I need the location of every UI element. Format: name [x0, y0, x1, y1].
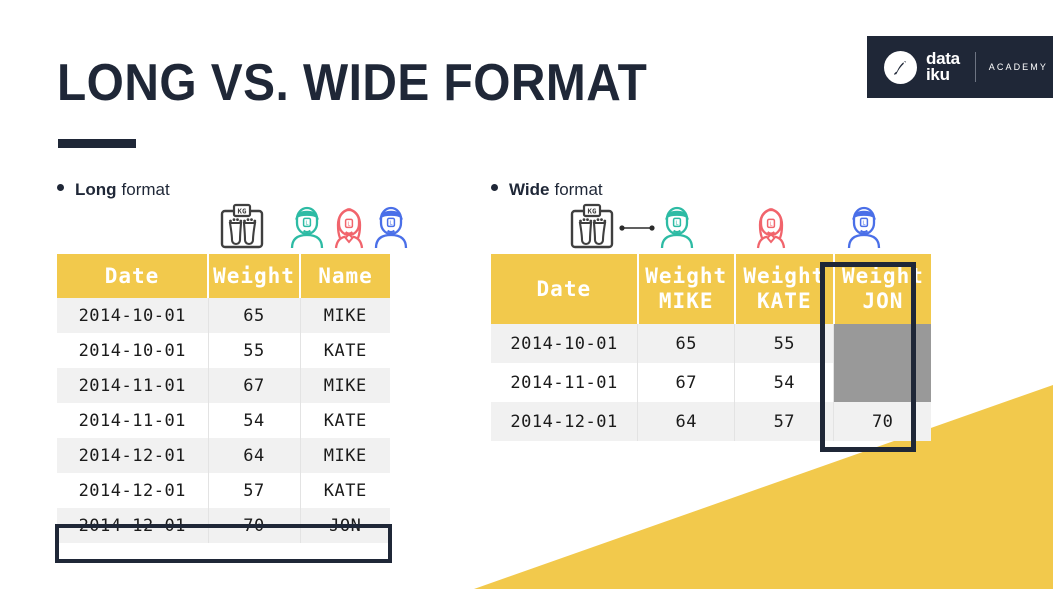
cell-date: 2014-10-01 [57, 333, 208, 368]
svg-text:L: L [389, 221, 392, 227]
wide-format-icon-strip: KG [491, 208, 931, 254]
svg-text:L: L [305, 221, 308, 227]
logo-wordmark-line2: iku [926, 67, 960, 83]
dataiku-bird-icon [884, 51, 917, 84]
cell-date: 2014-12-01 [491, 402, 638, 441]
cell-date: 2014-12-01 [57, 473, 208, 508]
wide-col-header-weight-mike[interactable]: Weight MIKE [638, 254, 735, 324]
table-row[interactable]: 2014-12-01 64 57 70 [491, 402, 931, 441]
cell-name: KATE [300, 333, 390, 368]
dataiku-academy-logo: data iku ACADEMY [867, 36, 1053, 98]
person-mike-icon: L [659, 205, 695, 254]
wide-col-header-date[interactable]: Date [491, 254, 638, 324]
logo-wordmark: data iku [926, 51, 960, 83]
long-col-header-weight[interactable]: Weight [208, 254, 300, 298]
cell-weight: 64 [208, 438, 300, 473]
cell-name: MIKE [300, 438, 390, 473]
weight-scale-icon: KG [218, 203, 266, 254]
long-format-icon-strip: KG L [57, 208, 457, 254]
cell-weight-kate: 54 [735, 363, 834, 402]
long-format-panel: Long format KG [57, 180, 457, 543]
cell-weight: 67 [208, 368, 300, 403]
cell-weight: 54 [208, 403, 300, 438]
cell-weight: 65 [208, 298, 300, 333]
wide-col-header-weight-jon[interactable]: Weight JON [834, 254, 931, 324]
cell-weight-mike: 67 [638, 363, 735, 402]
cell-weight-kate: 57 [735, 402, 834, 441]
cell-date: 2014-12-01 [57, 508, 208, 543]
wide-table-header-row: Date Weight MIKE Weight KATE Weight JON [491, 254, 931, 324]
long-format-table: Date Weight Name 2014-10-01 65 MIKE 2014… [57, 254, 390, 543]
person-jon-icon: L [373, 205, 409, 254]
wide-col-header-weight-kate[interactable]: Weight KATE [735, 254, 834, 324]
wide-format-heading-rest: format [554, 180, 602, 200]
long-format-heading-strong: Long [75, 180, 117, 200]
cell-date: 2014-11-01 [491, 363, 638, 402]
cell-weight-mike: 65 [638, 324, 735, 363]
logo-academy-label: ACADEMY [989, 62, 1048, 72]
cell-date: 2014-10-01 [491, 324, 638, 363]
table-row[interactable]: 2014-12-01 57 KATE [57, 473, 390, 508]
cell-weight-kate: 55 [735, 324, 834, 363]
wide-format-heading: Wide format [491, 180, 931, 200]
cell-weight: 55 [208, 333, 300, 368]
wide-format-table: Date Weight MIKE Weight KATE Weight JON [491, 254, 931, 441]
long-table-header-row: Date Weight Name [57, 254, 390, 298]
table-row[interactable]: 2014-12-01 64 MIKE [57, 438, 390, 473]
long-format-heading: Long format [57, 180, 457, 200]
long-col-header-name[interactable]: Name [300, 254, 390, 298]
wide-col-header-date-label: Date [493, 277, 635, 302]
cell-name: MIKE [300, 368, 390, 403]
wide-format-panel: Wide format KG [491, 180, 931, 441]
long-table-body: 2014-10-01 65 MIKE 2014-10-01 55 KATE 20… [57, 298, 390, 543]
page-title: LONG VS. WIDE FORMAT [57, 55, 647, 111]
cell-date: 2014-12-01 [57, 438, 208, 473]
wide-format-heading-strong: Wide [509, 180, 549, 200]
slide-root: data iku ACADEMY LONG VS. WIDE FORMAT Lo… [0, 0, 1053, 589]
svg-text:L: L [862, 221, 865, 227]
bullet-dot-icon [491, 184, 498, 191]
table-row[interactable]: 2014-11-01 67 54 [491, 363, 931, 402]
connector-arrow-icon [619, 219, 655, 237]
cell-weight: 57 [208, 473, 300, 508]
table-row-highlighted[interactable]: 2014-12-01 70 JON [57, 508, 390, 543]
table-row[interactable]: 2014-10-01 55 KATE [57, 333, 390, 368]
svg-text:KG: KG [588, 207, 597, 216]
weight-scale-icon: KG [568, 203, 616, 254]
table-row[interactable]: 2014-10-01 65 MIKE [57, 298, 390, 333]
cell-weight-mike: 64 [638, 402, 735, 441]
wide-table-body: 2014-10-01 65 55 2014-11-01 67 54 2014-1… [491, 324, 931, 441]
cell-weight: 70 [208, 508, 300, 543]
cell-name: KATE [300, 473, 390, 508]
cell-date: 2014-11-01 [57, 403, 208, 438]
cell-date: 2014-11-01 [57, 368, 208, 403]
cell-weight-jon-missing [834, 363, 931, 402]
cell-weight-jon-missing [834, 324, 931, 363]
bullet-dot-icon [57, 184, 64, 191]
person-kate-icon: L [753, 205, 789, 254]
cell-name: JON [300, 508, 390, 543]
svg-text:L: L [675, 221, 678, 227]
cell-date: 2014-10-01 [57, 298, 208, 333]
long-format-heading-rest: format [122, 180, 170, 200]
table-row[interactable]: 2014-11-01 67 MIKE [57, 368, 390, 403]
svg-text:KG: KG [238, 207, 247, 216]
person-mike-icon: L [289, 205, 325, 254]
svg-text:L: L [347, 222, 350, 228]
table-row[interactable]: 2014-10-01 65 55 [491, 324, 931, 363]
svg-text:L: L [769, 222, 772, 228]
person-kate-icon: L [331, 205, 367, 254]
cell-name: MIKE [300, 298, 390, 333]
title-underline-rule [58, 139, 136, 148]
cell-weight-jon: 70 [834, 402, 931, 441]
cell-name: KATE [300, 403, 390, 438]
person-jon-icon: L [846, 205, 882, 254]
logo-divider [975, 52, 976, 82]
table-row[interactable]: 2014-11-01 54 KATE [57, 403, 390, 438]
long-col-header-date[interactable]: Date [57, 254, 208, 298]
